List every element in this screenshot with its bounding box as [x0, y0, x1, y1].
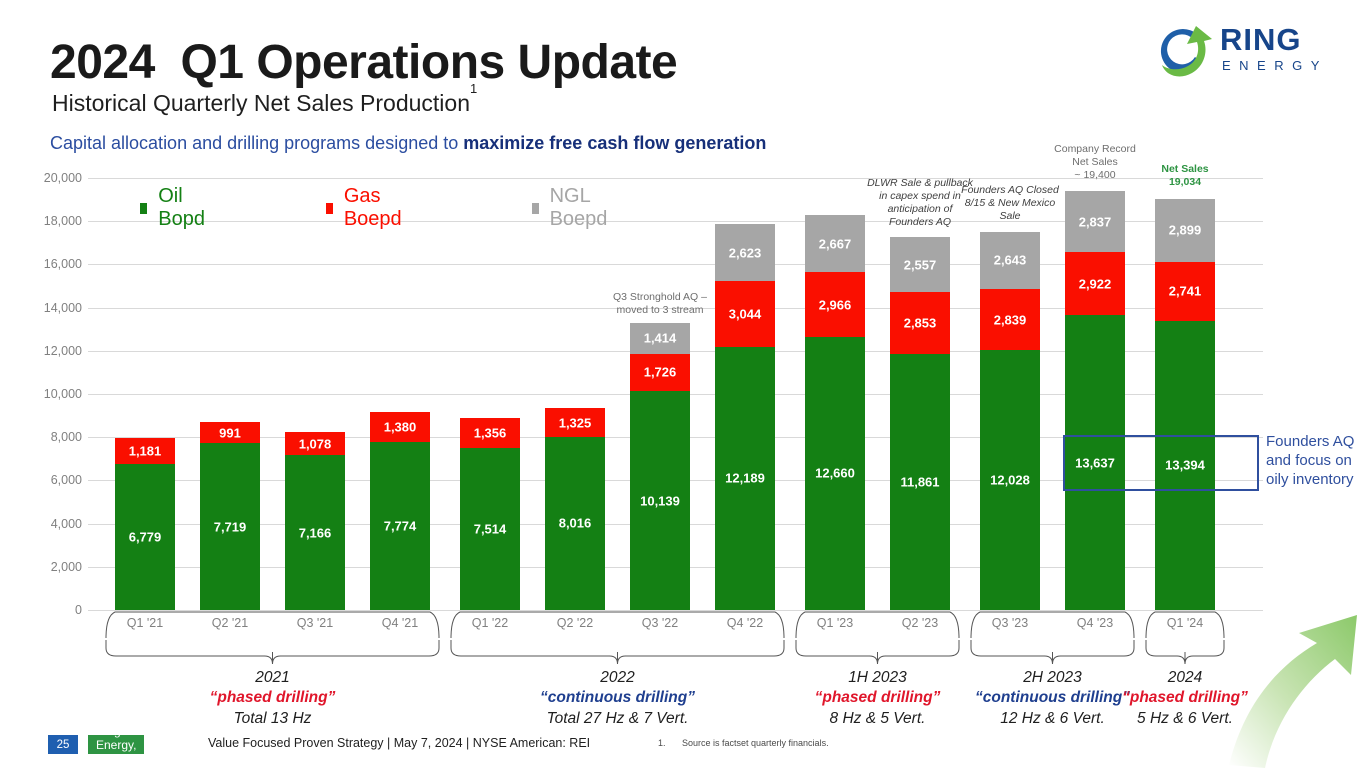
kicker-normal: Capital allocation and drilling programs… — [50, 133, 463, 153]
bar-q123[interactable]: 2,6672,96612,660 — [805, 215, 865, 610]
group-detail: 5 Hz & 6 Vert. — [1070, 709, 1300, 729]
x-axis-tick-label: Q4 '23 — [1065, 616, 1125, 630]
bar-value-label: 2,667 — [805, 236, 865, 251]
y-axis-tick-label: 2,000 — [12, 560, 82, 574]
x-axis-tick-label: Q4 '22 — [715, 616, 775, 630]
group-label-2024: 2024“phased drilling”5 Hz & 6 Vert. — [1070, 668, 1300, 729]
page-title: 2024 Q1 Operations Update — [50, 35, 677, 90]
group-drilling-mode: “phased drilling” — [158, 688, 388, 708]
bar-segment-ngl: 2,899 — [1155, 199, 1215, 262]
bar-segment-gas: 2,839 — [980, 289, 1040, 350]
group-year: 2024 — [1070, 668, 1300, 688]
bar-value-label: 2,899 — [1155, 223, 1215, 238]
bar-value-label: 12,660 — [805, 466, 865, 481]
footer-tagline: Value Focused Proven Strategy | May 7, 2… — [208, 736, 590, 750]
bar-segment-ngl: 1,414 — [630, 323, 690, 354]
y-axis-tick-label: 14,000 — [12, 301, 82, 315]
bar-value-label: 12,189 — [715, 471, 775, 486]
bar-segment-gas: 2,922 — [1065, 252, 1125, 315]
legend-swatch-ngl — [532, 203, 539, 214]
bar-q423[interactable]: 2,8372,92213,637 — [1065, 191, 1125, 610]
bar-segment-gas: 1,726 — [630, 354, 690, 391]
bar-q124[interactable]: 2,8992,74113,394 — [1155, 199, 1215, 610]
logo-subword: ENERGY — [1222, 59, 1328, 72]
legend-label-gas: Gas Boepd — [344, 185, 406, 231]
page-subtitle: Historical Quarterly Net Sales Productio… — [52, 90, 477, 117]
bar-segment-oil: 7,774 — [370, 442, 430, 610]
bar-segment-oil: 8,016 — [545, 437, 605, 610]
x-axis-tick-label: Q1 '23 — [805, 616, 865, 630]
subtitle-footnote-marker: 1 — [470, 81, 477, 96]
group-brace — [796, 640, 959, 664]
slide: 2024 Q1 Operations Update Historical Qua… — [0, 0, 1365, 768]
bar-segment-gas: 1,078 — [285, 432, 345, 455]
group-brace — [1146, 640, 1224, 664]
group-brace — [451, 640, 784, 664]
bar-q422[interactable]: 2,6233,04412,189 — [715, 224, 775, 610]
bar-value-label: 1,325 — [545, 415, 605, 430]
x-axis-tick-label: Q1 '21 — [115, 616, 175, 630]
bar-q122[interactable]: 1,3567,514 — [460, 418, 520, 610]
group-detail: Total 13 Hz — [158, 709, 388, 729]
group-brace — [971, 640, 1134, 664]
bar-value-label: 11,861 — [890, 474, 950, 489]
group-label-2022: 2022“continuous drilling”Total 27 Hz & 7… — [503, 668, 733, 729]
bar-value-label: 7,719 — [200, 519, 260, 534]
y-axis-tick-label: 20,000 — [12, 171, 82, 185]
chart-plot-area: 02,0004,0006,0008,00010,00012,00014,0001… — [88, 178, 1263, 610]
bar-segment-oil: 12,189 — [715, 347, 775, 610]
legend-item-oil[interactable]: Oil Bopd — [140, 185, 209, 231]
kicker-bold: maximize free cash flow generation — [463, 133, 766, 153]
bar-segment-oil: 11,861 — [890, 354, 950, 610]
bar-segment-gas: 2,966 — [805, 272, 865, 336]
bar-q223[interactable]: 2,5572,85311,861 — [890, 237, 950, 610]
y-axis-tick-label: 6,000 — [12, 473, 82, 487]
bar-q222[interactable]: 1,3258,016 — [545, 408, 605, 610]
bar-segment-oil: 7,166 — [285, 455, 345, 610]
bar-segment-gas: 2,853 — [890, 292, 950, 354]
bar-segment-gas: 1,181 — [115, 438, 175, 464]
group-drilling-mode: “continuous drilling” — [503, 688, 733, 708]
bar-value-label: 1,726 — [630, 365, 690, 380]
bar-annotation-q3-22-note: Q3 Stronghold AQ – moved to 3 stream — [590, 291, 730, 317]
ring-arrow-logo-icon — [1152, 22, 1218, 80]
group-year: 2022 — [503, 668, 733, 688]
bar-value-label: 991 — [200, 425, 260, 440]
group-detail: Total 27 Hz & 7 Vert. — [503, 709, 733, 729]
kicker-line: Capital allocation and drilling programs… — [50, 133, 766, 154]
bar-value-label: 2,741 — [1155, 284, 1215, 299]
bar-segment-gas: 991 — [200, 422, 260, 443]
group-drilling-mode: “phased drilling” — [1070, 688, 1300, 708]
x-axis: Q1 '21Q2 '21Q3 '21Q4 '21Q1 '22Q2 '22Q3 '… — [88, 610, 1263, 640]
bar-q323[interactable]: 2,6432,83912,028 — [980, 232, 1040, 610]
x-axis-tick-label: Q2 '21 — [200, 616, 260, 630]
x-axis-tick-label: Q2 '22 — [545, 616, 605, 630]
y-axis-tick-label: 12,000 — [12, 344, 82, 358]
bar-q421[interactable]: 1,3807,774 — [370, 412, 430, 610]
group-label-2021: 2021“phased drilling”Total 13 Hz — [158, 668, 388, 729]
bar-value-label: 1,380 — [370, 420, 430, 435]
bar-segment-gas: 1,356 — [460, 418, 520, 447]
bar-q221[interactable]: 9917,719 — [200, 422, 260, 610]
bar-segment-gas: 1,380 — [370, 412, 430, 442]
bar-value-label: 2,966 — [805, 297, 865, 312]
bar-q322[interactable]: 1,4141,72610,139 — [630, 323, 690, 610]
bar-value-label: 2,643 — [980, 253, 1040, 268]
bar-q321[interactable]: 1,0787,166 — [285, 432, 345, 610]
legend-item-gas[interactable]: Gas Boepd — [326, 185, 406, 231]
legend-label-ngl: NGL Boepd — [550, 185, 612, 231]
x-axis-tick-label: Q4 '21 — [370, 616, 430, 630]
bar-segment-ngl: 2,643 — [980, 232, 1040, 289]
x-axis-tick-label: Q3 '23 — [980, 616, 1040, 630]
page-number-badge: 25 — [48, 735, 78, 754]
y-axis-tick-label: 10,000 — [12, 387, 82, 401]
bar-segment-gas: 2,741 — [1155, 262, 1215, 321]
bar-value-label: 1,414 — [630, 331, 690, 346]
callout-highlight-box — [1063, 435, 1259, 491]
bar-segment-gas: 1,325 — [545, 408, 605, 437]
x-axis-tick-label: Q1 '24 — [1155, 616, 1215, 630]
y-axis-tick-label: 18,000 — [12, 214, 82, 228]
bar-annotation-q4-23-note: Company Record Net Sales ~ 19,400 — [1040, 143, 1150, 182]
bar-segment-oil: 12,660 — [805, 337, 865, 610]
group-brace — [106, 640, 439, 664]
company-badge: Ring Energy, Inc. — [88, 735, 144, 754]
footnote-number: 1. — [658, 738, 666, 748]
bar-value-label: 1,078 — [285, 436, 345, 451]
page-subtitle-text: Historical Quarterly Net Sales Productio… — [52, 90, 470, 116]
bar-annotation-q1-24-note: Net Sales 19,034 — [1135, 163, 1235, 189]
y-axis-tick-label: 16,000 — [12, 257, 82, 271]
bar-value-label: 8,016 — [545, 516, 605, 531]
bar-segment-oil: 7,719 — [200, 443, 260, 610]
legend-swatch-oil — [140, 203, 147, 214]
bar-value-label: 2,839 — [980, 312, 1040, 327]
footnote-text: Source is factset quarterly financials. — [682, 738, 829, 748]
legend-label-oil: Oil Bopd — [158, 185, 208, 231]
legend-item-ngl[interactable]: NGL Boepd — [532, 185, 612, 231]
x-axis-tick-label: Q2 '23 — [890, 616, 950, 630]
bar-segment-oil: 6,779 — [115, 464, 175, 610]
x-axis-tick-label: Q3 '21 — [285, 616, 345, 630]
bar-segment-oil: 12,028 — [980, 350, 1040, 610]
bar-segment-oil: 10,139 — [630, 391, 690, 610]
bar-value-label: 10,139 — [630, 493, 690, 508]
y-axis-tick-label: 0 — [12, 603, 82, 617]
bar-segment-ngl: 2,557 — [890, 237, 950, 292]
bar-q121[interactable]: 1,1816,779 — [115, 438, 175, 610]
ring-energy-logo: RING ENERGY — [1152, 22, 1352, 82]
bar-value-label: 1,356 — [460, 426, 520, 441]
bar-value-label: 7,514 — [460, 521, 520, 536]
bar-value-label: 2,623 — [715, 245, 775, 260]
bar-annotation-q3-23-note: Founders AQ Closed 8/15 & New Mexico Sal… — [943, 184, 1078, 223]
bar-value-label: 2,922 — [1065, 276, 1125, 291]
bar-value-label: 7,774 — [370, 519, 430, 534]
bar-value-label: 6,779 — [115, 529, 175, 544]
bar-segment-ngl: 2,623 — [715, 224, 775, 281]
bar-value-label: 2,853 — [890, 316, 950, 331]
y-axis-tick-label: 8,000 — [12, 430, 82, 444]
bar-segment-oil: 7,514 — [460, 448, 520, 610]
bar-value-label: 2,557 — [890, 257, 950, 272]
logo-wordmark: RING — [1220, 24, 1302, 55]
x-axis-tick-label: Q1 '22 — [460, 616, 520, 630]
x-axis-tick-label: Q3 '22 — [630, 616, 690, 630]
bar-value-label: 7,166 — [285, 525, 345, 540]
bar-value-label: 12,028 — [980, 473, 1040, 488]
callout-text: Founders AQ and focus on oily inventory — [1266, 432, 1365, 490]
group-year: 2021 — [158, 668, 388, 688]
bar-value-label: 1,181 — [115, 443, 175, 458]
legend-swatch-gas — [326, 203, 333, 214]
y-axis-tick-label: 4,000 — [12, 517, 82, 531]
